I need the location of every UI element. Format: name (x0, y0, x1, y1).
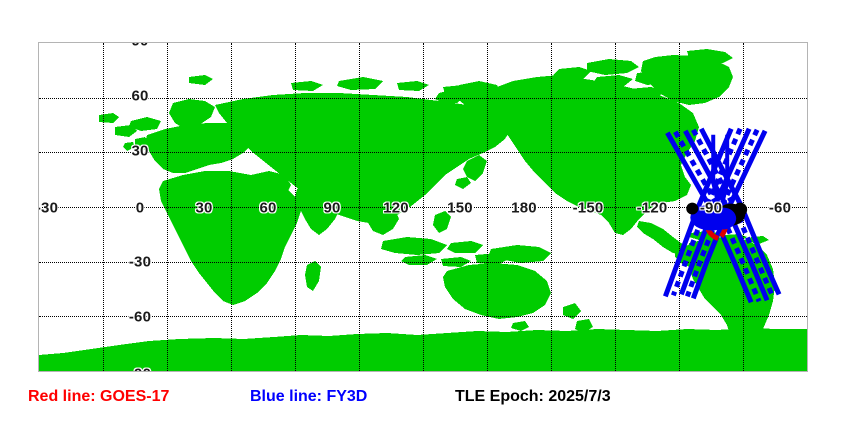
lat-tick-30: 30 (131, 144, 148, 159)
lon-tick--90: -90 (700, 201, 722, 216)
lon-tick-180: 180 (511, 201, 537, 216)
map-canvas (39, 43, 807, 371)
lon-tick--60: -60 (769, 201, 791, 216)
legend-blue-line-fy3d: Blue line: FY3D (250, 388, 367, 406)
lon-tick-120: 120 (383, 201, 409, 216)
legend: Red line: GOES-17 Blue line: FY3D TLE Ep… (0, 388, 850, 418)
lon-tick-150: 150 (447, 201, 473, 216)
lat-tick--30: -30 (129, 255, 151, 270)
ground-track-map-page: -30 0 30 60 90 120 150 180 -150 -120 -90… (0, 0, 850, 425)
lat-tick-0: 0 (136, 201, 145, 216)
lat-tick--90: -90 (129, 367, 151, 373)
lat-tick-60: 60 (131, 89, 148, 104)
legend-red-line-goes17: Red line: GOES-17 (28, 388, 169, 406)
lon-tick-30: 30 (195, 201, 212, 216)
lon-tick-60: 60 (259, 201, 276, 216)
lat-tick-90: 90 (131, 42, 148, 49)
lon-tick--150: -150 (573, 201, 604, 216)
legend-tle-epoch: TLE Epoch: 2025/7/3 (455, 388, 611, 406)
world-map-frame: -30 0 30 60 90 120 150 180 -150 -120 -90… (38, 42, 808, 372)
lat-tick--60: -60 (129, 310, 151, 325)
lon-tick--30: -30 (38, 201, 58, 216)
world-landmass (39, 43, 807, 371)
lon-tick--120: -120 (637, 201, 668, 216)
lon-tick-90: 90 (323, 201, 340, 216)
